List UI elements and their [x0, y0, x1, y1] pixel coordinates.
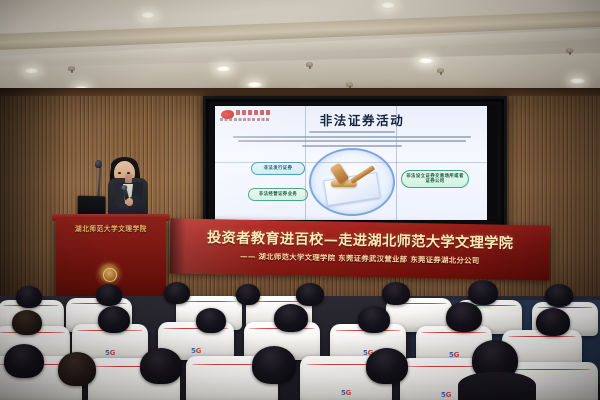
ceiling — [0, 0, 600, 96]
speaker-hand — [126, 198, 133, 206]
downlight — [570, 78, 585, 84]
audience-head — [358, 306, 390, 333]
audience-head — [296, 283, 324, 306]
sprinkler-head — [306, 62, 313, 67]
sprinkler-head — [68, 66, 75, 71]
audience-head — [12, 310, 42, 335]
downlight — [216, 66, 231, 72]
audience-head — [4, 344, 44, 378]
audience-head — [164, 282, 190, 304]
audience-head — [468, 280, 498, 305]
laptop-screen[interactable] — [78, 196, 106, 216]
audience-head — [98, 306, 130, 333]
downlight — [24, 68, 39, 74]
seat-5g-logo: 5G — [105, 349, 115, 357]
audience-head — [16, 286, 42, 308]
event-banner: 投资者教育进百校—走进湖北师范大学文理学院 —— 湖北师范大学文理学院 东莞证券… — [170, 218, 551, 280]
downlight — [380, 2, 396, 9]
seat-5g-logo: 5G — [191, 347, 201, 355]
sprinkler-head — [566, 48, 573, 53]
downlight — [140, 12, 156, 19]
audience-head — [140, 348, 182, 384]
audience-head — [58, 352, 96, 386]
video-wall-display[interactable]: 非法证券活动 非法发行证券 非法经营证券业务 非法设立证券交易场所或者证券公司 — [203, 96, 507, 231]
microphone-head-icon — [95, 160, 102, 168]
speaker-eye-left — [118, 172, 121, 174]
podium-label: 湖北师范大学文理学院 — [60, 223, 162, 233]
audience-head — [366, 348, 408, 384]
downlight — [418, 58, 434, 64]
seat-5g-logo: 5G — [341, 389, 351, 397]
audience-head — [536, 308, 570, 336]
audience-head — [382, 282, 410, 305]
sprinkler-head — [437, 68, 444, 73]
audience-head — [236, 284, 260, 305]
audience-head — [196, 308, 226, 333]
audience-head — [96, 284, 122, 306]
seat-5g-logo: 5G — [441, 391, 451, 399]
auditorium-photo: 非法证券活动 非法发行证券 非法经营证券业务 非法设立证券交易场所或者证券公司 — [0, 0, 600, 400]
audience-head — [274, 304, 308, 332]
sprinkler-head — [346, 82, 353, 87]
screen-bezel — [209, 102, 501, 225]
university-crest-icon — [98, 263, 120, 285]
audience-head — [252, 346, 296, 384]
audience-head — [545, 284, 573, 307]
audience-shoulder — [458, 372, 536, 400]
audience-head — [446, 302, 482, 332]
